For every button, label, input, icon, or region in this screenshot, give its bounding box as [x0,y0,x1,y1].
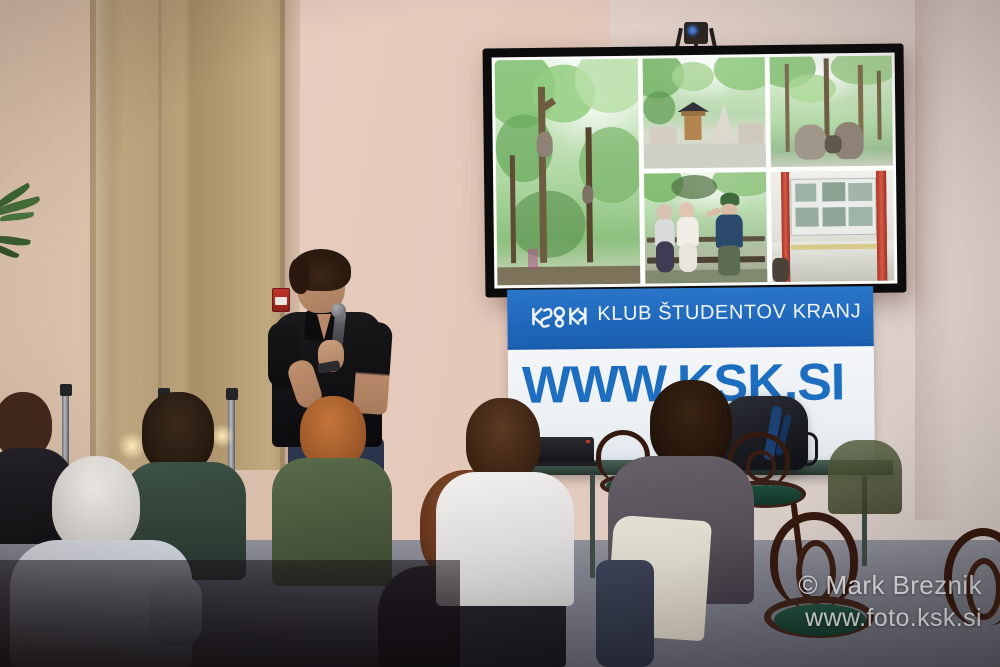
watermark-website: www.foto.ksk.si [805,604,982,633]
banner-organisation-name: KLUB ŠTUDENTOV KRANJ [597,300,861,326]
backpack-handle [806,432,818,466]
photo-visitors-bench [644,172,767,283]
photo-jungle-monkey [495,59,641,286]
wall-corner-shadow [915,0,955,520]
ksk-logo [529,303,589,334]
presenter-right-arm [353,321,393,415]
microphone-capsule [331,303,346,318]
photograph-presentation-scene: KLUB ŠTUDENTOV KRANJ WWW.KSK.SI [0,0,1000,667]
presenter-hair-side [289,258,309,294]
photo-red-gate [771,171,894,282]
photo-two-monkeys [770,56,893,167]
screen-surface [492,53,898,289]
watermark-credit: © Mark Breznik [798,570,982,601]
stanchion-head-left [60,384,72,396]
stanchion-head-right [226,388,238,400]
column-highlight [96,0,112,470]
photo-temple [643,57,766,168]
wall-mounted-screen [482,43,906,297]
laptop-base [531,462,599,466]
fire-alarm-label [275,297,287,305]
photo-collage [495,56,895,286]
foreground-shadow [0,560,460,667]
projector-status-led [688,26,697,35]
laptop-indicator-led [586,440,590,443]
